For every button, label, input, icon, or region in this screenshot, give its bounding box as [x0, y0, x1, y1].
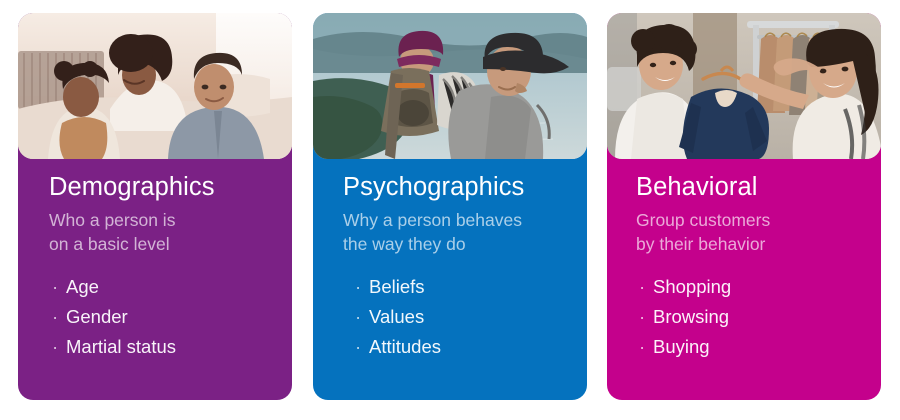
card-subtitle-line2: the way they do: [343, 233, 587, 256]
list-item: ·Martial status: [52, 332, 292, 362]
card-subtitle: Group customers by their behavior: [636, 209, 881, 256]
card-bullet-list: ·Shopping ·Browsing ·Buying: [639, 272, 881, 362]
bullet-dot-icon: ·: [52, 332, 58, 362]
list-item: ·Age: [52, 272, 292, 302]
list-item-label: Browsing: [653, 306, 729, 327]
list-item-label: Attitudes: [369, 336, 441, 357]
list-item: ·Browsing: [639, 302, 881, 332]
segmentation-cards-board: Demographics Who a person is on a basic …: [0, 0, 900, 420]
card-subtitle-line1: Why a person behaves: [343, 209, 587, 232]
bullet-dot-icon: ·: [355, 272, 361, 302]
bullet-dot-icon: ·: [639, 332, 645, 362]
list-item-label: Gender: [66, 306, 128, 327]
list-item: ·Buying: [639, 332, 881, 362]
bullet-dot-icon: ·: [52, 302, 58, 332]
card-subtitle: Why a person behaves the way they do: [343, 209, 587, 256]
card-psychographics[interactable]: Psychographics Why a person behaves the …: [313, 13, 587, 400]
list-item: ·Shopping: [639, 272, 881, 302]
list-item: ·Values: [355, 302, 587, 332]
list-item-label: Beliefs: [369, 276, 425, 297]
card-title: Demographics: [49, 173, 292, 202]
list-item: ·Beliefs: [355, 272, 587, 302]
card-demographics[interactable]: Demographics Who a person is on a basic …: [18, 13, 292, 400]
bullet-dot-icon: ·: [355, 332, 361, 362]
card-behavioral[interactable]: Behavioral Group customers by their beha…: [607, 13, 881, 400]
bullet-dot-icon: ·: [52, 272, 58, 302]
hiker-with-child-carrier-photo: [313, 13, 587, 159]
list-item: ·Attitudes: [355, 332, 587, 362]
card-body: Demographics Who a person is on a basic …: [18, 159, 292, 400]
card-subtitle-line2: on a basic level: [49, 233, 292, 256]
list-item-label: Buying: [653, 336, 710, 357]
bullet-dot-icon: ·: [639, 302, 645, 332]
family-living-room-photo: [18, 13, 292, 159]
list-item-label: Martial status: [66, 336, 176, 357]
list-item-label: Age: [66, 276, 99, 297]
card-bullet-list: ·Beliefs ·Values ·Attitudes: [355, 272, 587, 362]
card-subtitle-line1: Group customers: [636, 209, 881, 232]
list-item-label: Values: [369, 306, 424, 327]
card-title: Psychographics: [343, 173, 587, 202]
card-body: Psychographics Why a person behaves the …: [313, 159, 587, 400]
two-women-shopping-clothing-rack-photo: [607, 13, 881, 159]
card-title: Behavioral: [636, 173, 881, 202]
bullet-dot-icon: ·: [355, 302, 361, 332]
card-body: Behavioral Group customers by their beha…: [607, 159, 881, 400]
card-subtitle-line2: by their behavior: [636, 233, 881, 256]
card-bullet-list: ·Age ·Gender ·Martial status: [52, 272, 292, 362]
bullet-dot-icon: ·: [639, 272, 645, 302]
card-subtitle: Who a person is on a basic level: [49, 209, 292, 256]
list-item-label: Shopping: [653, 276, 731, 297]
card-subtitle-line1: Who a person is: [49, 209, 292, 232]
list-item: ·Gender: [52, 302, 292, 332]
